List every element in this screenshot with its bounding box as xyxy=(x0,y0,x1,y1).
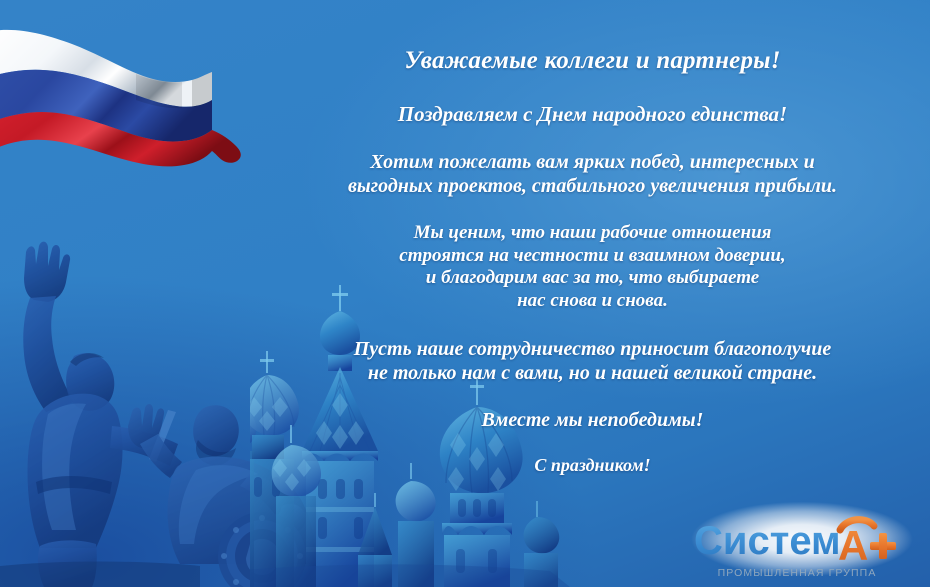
greeting-closing: Вместе мы непобедимы! xyxy=(255,409,930,433)
russian-flag-image xyxy=(0,22,286,202)
paragraph-2-line-3: и благодарим вас за то, что выбираете xyxy=(255,267,930,289)
logo-plus-icon xyxy=(870,533,896,559)
greeting-title: Уважаемые коллеги и партнеры! xyxy=(255,46,930,76)
greeting-paragraph-2: Мы ценим, что наши рабочие отношения стр… xyxy=(255,222,930,312)
greeting-paragraph-3: Пусть наше сотрудничество приносит благо… xyxy=(255,338,930,385)
greeting-subtitle: Поздравляем с Днем народного единства! xyxy=(255,102,930,127)
paragraph-3-line-1: Пусть наше сотрудничество приносит благо… xyxy=(255,338,930,362)
paragraph-1-line-1: Хотим пожелать вам ярких побед, интересн… xyxy=(255,151,930,175)
paragraph-2-line-4: нас снова и снова. xyxy=(255,290,930,312)
paragraph-2-line-1: Мы ценим, что наши рабочие отношения xyxy=(255,222,930,244)
paragraph-2-line-2: строятся на честности и взаимном доверии… xyxy=(255,245,930,267)
logo-tagline: ПРОМЫШЛЕННАЯ ГРУППА xyxy=(718,567,877,579)
paragraph-1-line-2: выгодных проектов, стабильного увеличени… xyxy=(255,175,930,199)
paragraph-3-line-2: не только нам с вами, но и нашей великой… xyxy=(255,362,930,386)
greeting-signoff: С праздником! xyxy=(255,455,930,476)
greeting-paragraph-1: Хотим пожелать вам ярких побед, интересн… xyxy=(255,151,930,198)
logo-wordmark-blue: Систем xyxy=(694,519,841,563)
greeting-card: Уважаемые коллеги и партнеры! Поздравляе… xyxy=(0,0,930,587)
logo-wordmark-accent: А xyxy=(838,522,868,569)
company-logo[interactable]: Систем А ПРОМЫШЛЕННАЯ ГРУППА xyxy=(690,512,905,582)
greeting-message: Уважаемые коллеги и партнеры! Поздравляе… xyxy=(255,46,930,476)
